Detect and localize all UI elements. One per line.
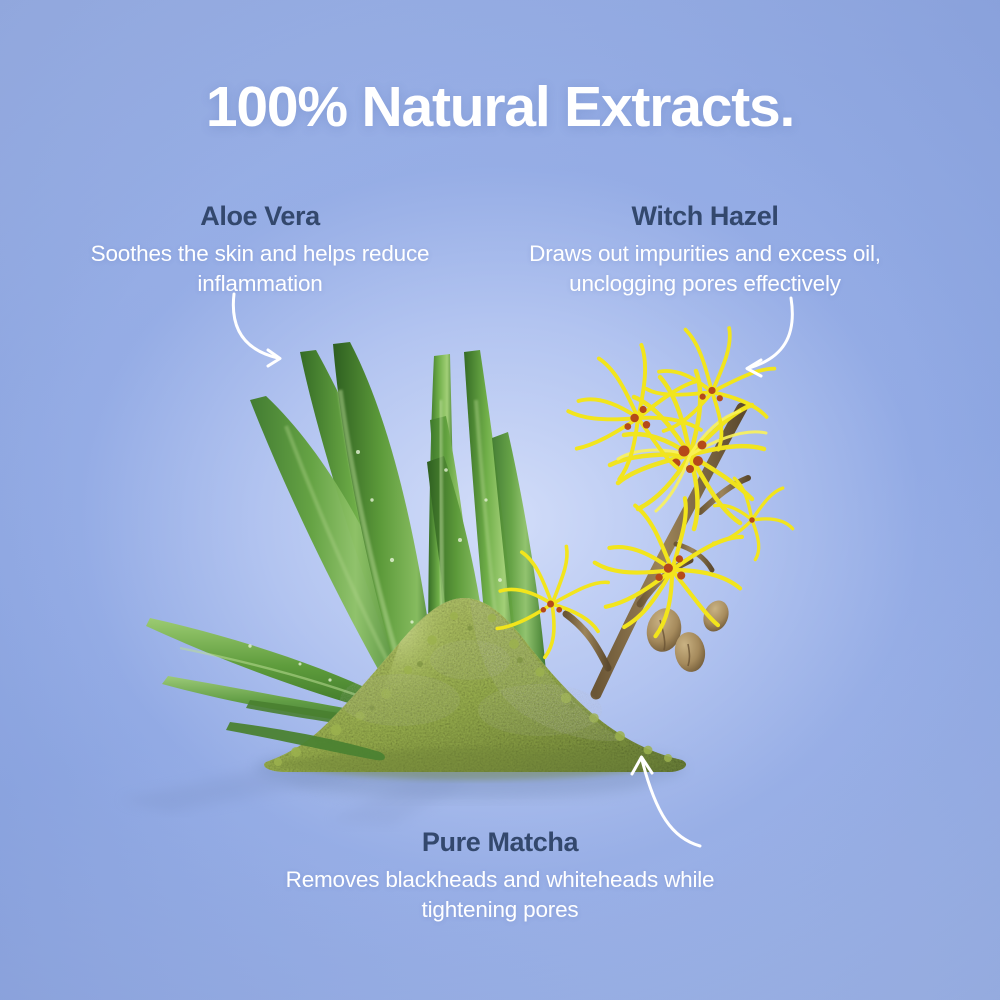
- callout-description-witch-hazel: Draws out impurities and excess oil, unc…: [480, 239, 930, 298]
- callout-description-aloe-vera: Soothes the skin and helps reduce inflam…: [55, 239, 465, 298]
- callout-description-pure-matcha: Removes blackheads and whiteheads while …: [255, 865, 745, 924]
- callout-witch-hazel: Witch Hazel Draws out impurities and exc…: [480, 200, 930, 298]
- callout-aloe-vera: Aloe Vera Soothes the skin and helps red…: [55, 200, 465, 298]
- callout-heading-pure-matcha: Pure Matcha: [255, 826, 745, 858]
- ingredient-infographic: 100% Natural Extracts. Aloe Vera Soothes…: [0, 0, 1000, 1000]
- callout-pure-matcha: Pure Matcha Removes blackheads and white…: [255, 826, 745, 924]
- callout-heading-witch-hazel: Witch Hazel: [480, 200, 930, 232]
- witch-hazel-flowers: [497, 328, 792, 657]
- callout-heading-aloe-vera: Aloe Vera: [55, 200, 465, 232]
- page-title: 100% Natural Extracts.: [0, 78, 1000, 138]
